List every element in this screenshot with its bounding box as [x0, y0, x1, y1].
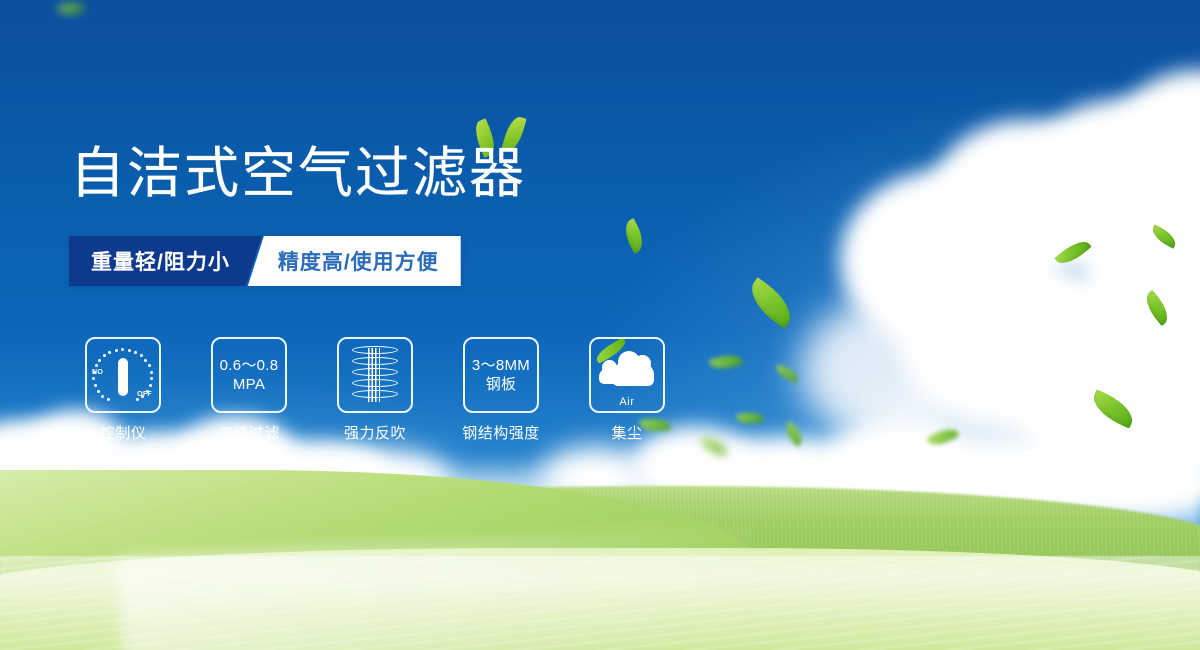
feature-label: 钢结构强度: [462, 422, 540, 443]
subtitle-segment-right: 精度高/使用方便: [248, 236, 461, 286]
feature-item-steel-strength[interactable]: 3〜8MM 钢板 钢结构强度: [463, 337, 539, 443]
gauge-icon: NO OFF: [93, 345, 153, 405]
feature-list: NO OFF 控制仪 0.6〜0.8 MPA 二级过滤: [85, 337, 665, 443]
feature-label: 控制仪: [100, 422, 147, 443]
feature-label: 集尘: [611, 422, 642, 443]
air-label: Air: [598, 396, 656, 408]
cloud-air-icon: Air: [598, 350, 656, 394]
pressure-value-line1: 0.6〜0.8: [220, 356, 279, 375]
cloud-air-icon-box: Air: [589, 337, 665, 413]
coil-icon: [352, 346, 398, 404]
feature-item-strong-backblow[interactable]: 强力反吹: [337, 337, 413, 443]
gauge-label-no: NO: [92, 369, 103, 376]
gauge-icon-box: NO OFF: [85, 337, 161, 413]
cloud-large: [612, 362, 654, 386]
thickness-text-icon-box: 3〜8MM 钢板: [463, 337, 539, 413]
pressure-text-icon-box: 0.6〜0.8 MPA: [211, 337, 287, 413]
feature-item-dust-collection[interactable]: Air 集尘: [589, 337, 665, 443]
thickness-value-line2: 钢板: [486, 375, 517, 394]
feature-label: 强力反吹: [344, 422, 406, 443]
page-title: 自洁式空气过滤器: [70, 142, 526, 204]
pressure-value-line2: MPA: [233, 375, 265, 394]
feature-item-control-gauge[interactable]: NO OFF 控制仪: [85, 337, 161, 443]
coil-icon-box: [337, 337, 413, 413]
feature-label: 二级过滤: [218, 422, 280, 443]
subtitle-bar: 重量轻/阻力小 精度高/使用方便: [69, 236, 461, 286]
gauge-needle: [118, 358, 128, 396]
thickness-value-line1: 3〜8MM: [472, 356, 530, 375]
banner-stage: 自洁式空气过滤器 重量轻/阻力小 精度高/使用方便: [0, 0, 1200, 650]
feature-item-two-stage-filter[interactable]: 0.6〜0.8 MPA 二级过滤: [211, 337, 287, 443]
gauge-label-off: OFF: [137, 391, 152, 398]
subtitle-segment-left: 重量轻/阻力小: [69, 236, 262, 286]
